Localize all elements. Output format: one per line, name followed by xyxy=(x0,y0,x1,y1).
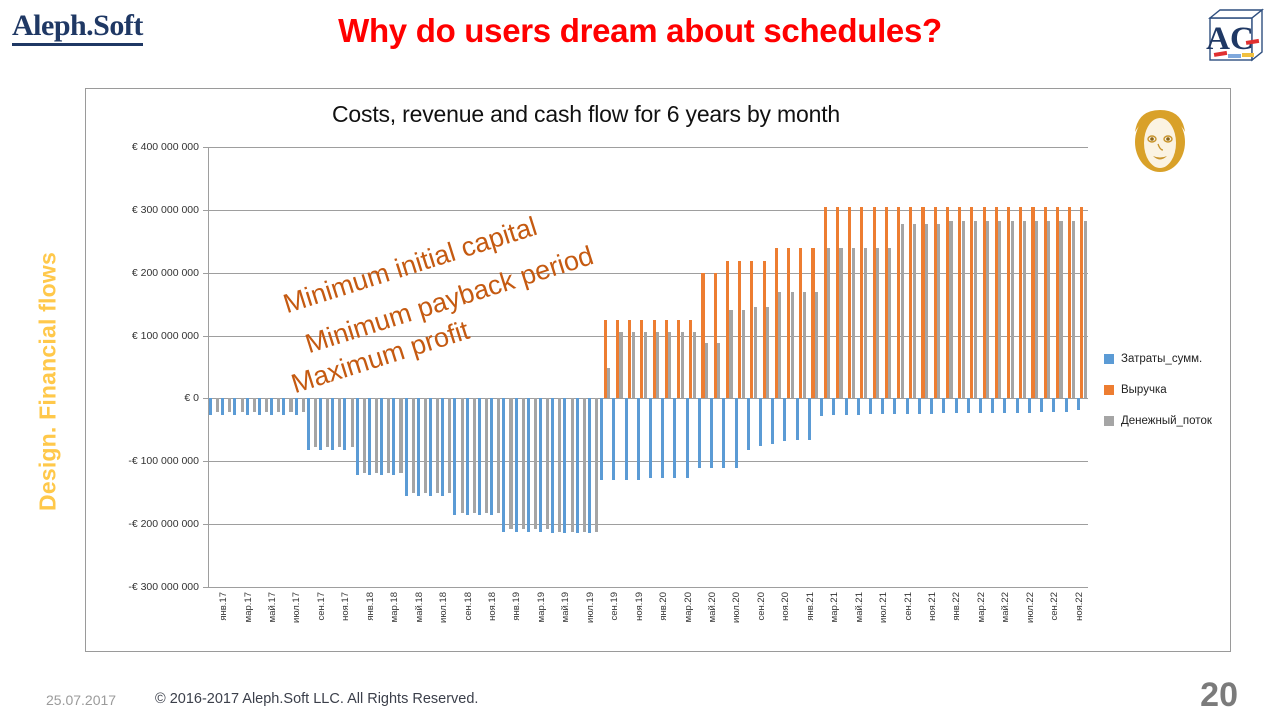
x-axis-tick-label: ноя.18 xyxy=(487,592,498,621)
x-axis-tick-label: ноя.17 xyxy=(340,592,351,621)
chart-bar xyxy=(888,248,891,399)
x-axis-tick-label: мар.19 xyxy=(536,592,547,622)
chart-bar xyxy=(637,398,640,480)
chart-bar xyxy=(356,398,359,475)
chart-bar xyxy=(832,398,835,415)
chart-bar xyxy=(1065,398,1068,412)
chart-bar xyxy=(351,398,354,447)
x-axis-labels: янв.17мар.17май.17июл.17сен.17ноя.17янв.… xyxy=(208,587,1088,647)
chart-bar xyxy=(864,248,867,399)
chart-bar xyxy=(392,398,395,475)
chart-title: Costs, revenue and cash flow for 6 years… xyxy=(86,101,1086,128)
x-axis-tick-label: июл.18 xyxy=(438,592,449,623)
x-axis-tick-label: май.19 xyxy=(560,592,571,622)
chart-bar xyxy=(473,398,476,512)
footer-date: 25.07.2017 xyxy=(46,692,116,708)
chart-bar xyxy=(233,398,236,414)
chart-bar xyxy=(405,398,408,495)
chart-bar xyxy=(693,332,696,398)
svg-text:AC: AC xyxy=(1206,21,1254,57)
legend-item-label: Денежный_поток xyxy=(1121,415,1212,427)
chart-bar xyxy=(209,398,212,414)
chart-bar xyxy=(289,398,292,412)
chart-bar xyxy=(766,307,769,398)
aleph-soft-cube-logo-icon: AC xyxy=(1202,6,1266,72)
legend-item-label: Выручка xyxy=(1121,384,1167,396)
chart-bar xyxy=(216,398,219,412)
chart-legend: Затраты_сумм.ВыручкаДенежный_поток xyxy=(1104,353,1212,446)
x-axis-tick-label: ноя.19 xyxy=(634,592,645,621)
chart-bar xyxy=(241,398,244,412)
chart-bar xyxy=(937,224,940,399)
chart-bar xyxy=(742,310,745,398)
chart-bar xyxy=(583,398,586,531)
chart-bar xyxy=(551,398,554,533)
chart-bar xyxy=(619,332,622,398)
chart-bar xyxy=(1003,398,1006,412)
chart-bar xyxy=(563,398,566,533)
chart-bar xyxy=(857,398,860,414)
woman-avatar-icon xyxy=(1126,106,1194,176)
chart-bar xyxy=(991,398,994,412)
chart-bar xyxy=(571,398,574,531)
chart-bar xyxy=(319,398,322,450)
chart-bar xyxy=(754,307,757,398)
chart-bar xyxy=(380,398,383,475)
x-axis-tick-label: мар.18 xyxy=(389,592,400,622)
chart-bar xyxy=(221,398,224,414)
chart-bar xyxy=(424,398,427,492)
footer-copyright: © 2016-2017 Aleph.Soft LLC. All Rights R… xyxy=(155,691,478,707)
chart-bar xyxy=(558,398,561,531)
chart-bar xyxy=(661,398,664,477)
chart-bar xyxy=(747,398,750,450)
chart-bar xyxy=(986,221,989,398)
chart-bar xyxy=(258,398,261,414)
chart-bar xyxy=(1016,398,1019,412)
page-title: Why do users dream about schedules? xyxy=(0,12,1280,50)
y-axis-tick-label: € 100 000 000 xyxy=(132,330,199,342)
chart-bar xyxy=(705,343,708,398)
chart-container: Costs, revenue and cash flow for 6 years… xyxy=(85,88,1231,652)
chart-bar xyxy=(791,292,794,399)
chart-bar xyxy=(1047,221,1050,398)
chart-bar xyxy=(375,398,378,472)
x-axis-tick-label: июл.17 xyxy=(291,592,302,623)
x-axis-tick-label: янв.20 xyxy=(658,592,669,621)
x-axis-tick-label: янв.21 xyxy=(805,592,816,621)
chart-bar xyxy=(302,398,305,412)
chart-bar xyxy=(429,398,432,495)
x-axis-tick-label: сен.20 xyxy=(756,592,767,621)
chart-bar xyxy=(270,398,273,414)
chart-bar xyxy=(803,292,806,399)
chart-bar xyxy=(881,398,884,414)
chart-bar xyxy=(729,310,732,398)
chart-bar xyxy=(576,398,579,533)
legend-item[interactable]: Затраты_сумм. xyxy=(1104,353,1212,365)
x-axis-tick-label: май.20 xyxy=(707,592,718,622)
chart-bar xyxy=(546,398,549,529)
chart-bar xyxy=(656,332,659,398)
x-axis-tick-label: май.21 xyxy=(854,592,865,622)
chart-bar xyxy=(527,398,530,531)
page-number: 20 xyxy=(1200,676,1238,715)
x-axis-tick-label: янв.22 xyxy=(951,592,962,621)
chart-bar xyxy=(326,398,329,447)
y-axis-tick-label: € 300 000 000 xyxy=(132,204,199,216)
chart-bar xyxy=(399,398,402,472)
chart-bar xyxy=(1084,221,1087,398)
chart-bar xyxy=(815,292,818,399)
x-axis-tick-label: сен.21 xyxy=(903,592,914,621)
y-axis-tick-label: € 0 xyxy=(184,392,199,404)
chart-bar xyxy=(1035,221,1038,398)
chart-bar xyxy=(466,398,469,515)
chart-bar xyxy=(441,398,444,495)
legend-color-swatch xyxy=(1104,385,1114,395)
chart-bar xyxy=(453,398,456,515)
chart-bar xyxy=(979,398,982,412)
chart-bar xyxy=(668,332,671,398)
chart-bar xyxy=(368,398,371,475)
y-axis-tick-label: € 200 000 000 xyxy=(132,267,199,279)
x-axis-tick-label: сен.17 xyxy=(316,592,327,621)
chart-bar xyxy=(796,398,799,439)
chart-bar xyxy=(967,398,970,412)
chart-bar xyxy=(265,398,268,412)
x-axis-tick-label: май.18 xyxy=(414,592,425,622)
chart-bar xyxy=(228,398,231,412)
x-axis-tick-label: июл.20 xyxy=(731,592,742,623)
chart-bar xyxy=(783,398,786,441)
x-axis-tick-label: мар.20 xyxy=(683,592,694,622)
chart-bar xyxy=(436,398,439,492)
chart-bar xyxy=(485,398,488,512)
y-axis-tick-label: -€ 300 000 000 xyxy=(128,581,199,593)
chart-bar xyxy=(974,221,977,398)
legend-item[interactable]: Выручка xyxy=(1104,384,1212,396)
chart-bar xyxy=(314,398,317,447)
chart-bar xyxy=(771,398,774,443)
chart-bar xyxy=(253,398,256,412)
y-axis-tick-label: -€ 200 000 000 xyxy=(128,518,199,530)
chart-bar xyxy=(808,398,811,439)
chart-bar xyxy=(246,398,249,414)
chart-bar xyxy=(478,398,481,515)
x-axis-tick-label: сен.19 xyxy=(609,592,620,621)
chart-bar xyxy=(539,398,542,531)
chart-bar xyxy=(509,398,512,529)
chart-bar xyxy=(612,398,615,480)
chart-bar xyxy=(387,398,390,472)
chart-bar xyxy=(1040,398,1043,412)
chart-bar xyxy=(949,221,952,398)
legend-color-swatch xyxy=(1104,416,1114,426)
chart-bar xyxy=(827,248,830,399)
chart-bar xyxy=(722,398,725,467)
chart-bar xyxy=(595,398,598,531)
chart-bar xyxy=(876,248,879,399)
chart-bar xyxy=(918,398,921,413)
chart-bar xyxy=(644,332,647,398)
x-axis-tick-label: сен.18 xyxy=(463,592,474,621)
chart-bar xyxy=(962,221,965,398)
x-axis-tick-label: мар.22 xyxy=(976,592,987,622)
chart-bar xyxy=(925,224,928,399)
legend-item-label: Затраты_сумм. xyxy=(1121,353,1202,365)
chart-bar xyxy=(282,398,285,414)
chart-bar xyxy=(412,398,415,492)
chart-bar xyxy=(681,332,684,398)
chart-bar xyxy=(893,398,896,413)
chart-bar xyxy=(913,224,916,399)
x-axis-tick-label: май.22 xyxy=(1000,592,1011,622)
chart-bar xyxy=(1077,398,1080,409)
chart-bar xyxy=(502,398,505,531)
chart-bar xyxy=(955,398,958,412)
x-axis-tick-label: ноя.21 xyxy=(927,592,938,621)
x-axis-tick-label: июл.21 xyxy=(878,592,889,623)
chart-bar xyxy=(698,398,701,467)
chart-bar xyxy=(998,221,1001,398)
chart-bar xyxy=(277,398,280,412)
x-axis-tick-label: июл.22 xyxy=(1025,592,1036,623)
chart-bar xyxy=(717,343,720,398)
chart-bar xyxy=(901,224,904,399)
chart-bar xyxy=(942,398,945,412)
chart-bar xyxy=(1028,398,1031,412)
chart-bar xyxy=(759,398,762,446)
chart-bar xyxy=(673,398,676,477)
chart-bar xyxy=(515,398,518,531)
chart-bar xyxy=(343,398,346,450)
chart-bar xyxy=(852,248,855,399)
chart-bar xyxy=(686,398,689,477)
chart-bar xyxy=(295,398,298,414)
chart-bar xyxy=(735,398,738,467)
x-axis-tick-label: янв.18 xyxy=(365,592,376,621)
x-axis-tick-label: янв.19 xyxy=(511,592,522,621)
chart-bar xyxy=(307,398,310,450)
chart-bar xyxy=(869,398,872,414)
chart-bar xyxy=(845,398,848,414)
x-axis-tick-label: сен.22 xyxy=(1049,592,1060,621)
chart-bar xyxy=(363,398,366,472)
x-axis-tick-label: ноя.22 xyxy=(1074,592,1085,621)
x-axis-tick-label: мар.21 xyxy=(829,592,840,622)
chart-bar xyxy=(839,248,842,399)
section-caption: Design. Financial flows xyxy=(35,182,62,582)
x-axis-tick-label: янв.17 xyxy=(218,592,229,621)
chart-bar xyxy=(710,398,713,467)
chart-bar xyxy=(417,398,420,495)
chart-bar xyxy=(490,398,493,515)
y-axis-tick-label: € 400 000 000 xyxy=(132,141,199,153)
chart-bar xyxy=(1059,221,1062,398)
chart-bar xyxy=(600,398,603,480)
legend-item[interactable]: Денежный_поток xyxy=(1104,415,1212,427)
chart-bar xyxy=(649,398,652,477)
legend-color-swatch xyxy=(1104,354,1114,364)
x-axis-tick-label: мар.17 xyxy=(243,592,254,622)
chart-bar xyxy=(1052,398,1055,412)
x-axis-tick-label: май.17 xyxy=(267,592,278,622)
chart-bar xyxy=(522,398,525,529)
chart-bar xyxy=(1011,221,1014,398)
chart-bar xyxy=(497,398,500,512)
chart-bar xyxy=(331,398,334,450)
chart-bar xyxy=(778,292,781,399)
chart-bar xyxy=(625,398,628,480)
chart-bar xyxy=(906,398,909,413)
chart-bar xyxy=(1023,221,1026,398)
x-axis-tick-label: ноя.20 xyxy=(780,592,791,621)
chart-bar xyxy=(338,398,341,447)
chart-bar xyxy=(588,398,591,533)
chart-bar xyxy=(607,368,610,398)
chart-bar xyxy=(461,398,464,512)
chart-bar xyxy=(448,398,451,492)
chart-bar xyxy=(534,398,537,529)
y-axis-tick-label: -€ 100 000 000 xyxy=(128,455,199,467)
chart-bar xyxy=(930,398,933,413)
chart-bar xyxy=(632,332,635,398)
x-axis-tick-label: июл.19 xyxy=(585,592,596,623)
chart-bar xyxy=(1072,221,1075,398)
chart-bar xyxy=(820,398,823,416)
